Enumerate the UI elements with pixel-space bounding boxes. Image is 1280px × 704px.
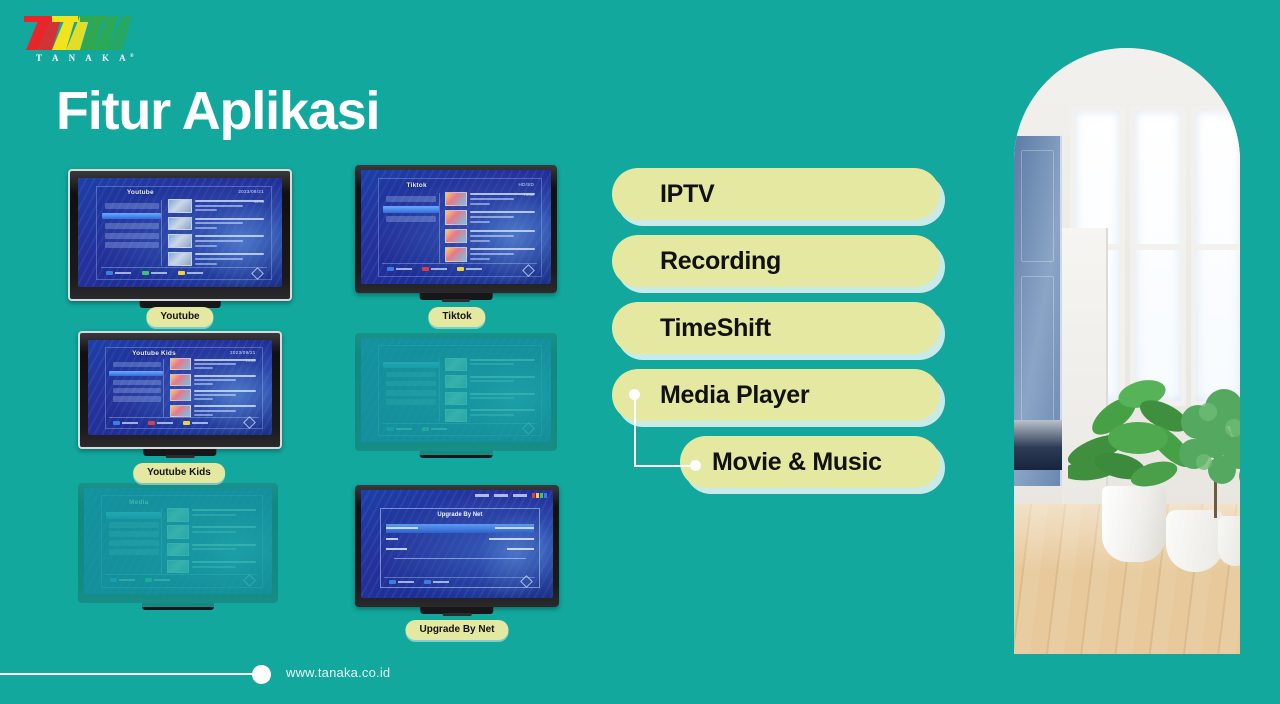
list-item[interactable] (168, 251, 267, 267)
screenshot-grid: Youtube 2023/09/21 14:35 (0, 165, 600, 645)
thumbnail (445, 392, 467, 405)
ok-diamond-icon (243, 574, 256, 587)
menu-item[interactable] (113, 388, 161, 393)
blue-key-icon (389, 580, 396, 584)
green-key-icon (142, 271, 149, 275)
app-key-hint-bar (109, 417, 259, 427)
tv-stand (142, 603, 214, 610)
photo-plant-tree-icon (1164, 378, 1240, 518)
menu-item-selected[interactable] (383, 206, 438, 213)
feature-list: IPTV Recording TimeShift Media Player Mo… (612, 168, 952, 498)
thumbnail (445, 409, 467, 422)
tv-screen-upgrade: Upgrade By Net (361, 490, 553, 598)
menu-item[interactable] (105, 203, 159, 209)
thumbnail (170, 358, 191, 370)
logo-subtext: T A N A K A® (36, 53, 134, 63)
thumbnail (168, 252, 192, 266)
dialog-row[interactable] (386, 535, 534, 544)
key-hint (145, 578, 170, 582)
blue-key-icon (106, 271, 113, 275)
app-meta: HD/SD (519, 182, 535, 187)
ok-diamond-icon (522, 422, 535, 435)
caption-tiktok: Tiktok (428, 307, 485, 327)
list-item[interactable] (445, 246, 537, 263)
app-menu-list[interactable] (109, 359, 164, 417)
footer-rule (0, 673, 252, 675)
menu-item[interactable] (109, 522, 158, 528)
feature-pill-iptv[interactable]: IPTV (612, 168, 940, 220)
menu-item[interactable] (386, 399, 436, 405)
list-item[interactable] (170, 357, 259, 371)
logo-mark-icon (22, 14, 140, 52)
upgrade-dialog: Upgrade By Net (380, 508, 539, 588)
list-item[interactable] (167, 507, 258, 523)
thumbnail (445, 358, 467, 371)
list-item[interactable] (445, 408, 537, 424)
thumbnail (445, 229, 467, 244)
ok-diamond-icon (251, 267, 264, 280)
yellow-key-icon (178, 271, 185, 275)
list-item[interactable] (168, 198, 267, 214)
screenshot-card-faded-2[interactable]: Media (78, 483, 278, 603)
interior-photo (1014, 48, 1240, 654)
app-content-list[interactable] (445, 357, 537, 423)
green-key-icon (422, 427, 429, 431)
tv-stand (420, 451, 493, 458)
tv-bezel: Youtube Kids 2023/09/21 14:35 (78, 331, 282, 449)
app-panel: Youtube Kids 2023/09/21 14:35 (105, 347, 263, 430)
dialog-row[interactable] (386, 544, 534, 553)
menu-item[interactable] (109, 531, 158, 537)
dialog-key-hint-bar (384, 577, 535, 586)
app-title: Media (129, 499, 148, 506)
tanaka-logo: T A N A K A® (22, 14, 142, 72)
thumbnail (170, 405, 191, 417)
screenshot-card-tiktok[interactable]: Tiktok HD/SD HDMI (355, 165, 557, 293)
blue-key-icon (387, 267, 394, 271)
app-key-hint-bar (382, 423, 537, 434)
app-content-list[interactable] (445, 191, 537, 263)
app-meta: 2023/09/21 (230, 350, 256, 355)
list-item[interactable] (445, 374, 537, 390)
key-hint (178, 271, 203, 275)
tv-screen-faded-2: Media (84, 488, 272, 594)
menu-item[interactable] (386, 372, 436, 378)
menu-item[interactable] (386, 390, 436, 396)
menu-item[interactable] (105, 233, 159, 239)
key-hint (142, 271, 167, 275)
menu-item-selected[interactable] (383, 362, 438, 368)
tv-bezel: Upgrade By Net (355, 485, 559, 607)
app-meta: 2023/09/21 (238, 189, 264, 194)
key-hint (424, 580, 449, 584)
thumbnail (167, 543, 189, 556)
list-item[interactable] (170, 388, 259, 402)
ok-diamond-icon (520, 575, 533, 588)
blue-key-icon (387, 427, 394, 431)
tv-bezel (355, 333, 557, 451)
thumbnail (170, 389, 191, 401)
photo-cabinet-shadow (1014, 420, 1062, 470)
feature-pill-timeshift[interactable]: TimeShift (612, 302, 940, 354)
tv-bezel: Media (78, 483, 278, 603)
tv-topbar (475, 493, 547, 498)
menu-item[interactable] (105, 223, 159, 229)
list-item[interactable] (170, 404, 259, 418)
key-hint (457, 267, 482, 271)
menu-item[interactable] (105, 242, 159, 248)
blue-key-icon (113, 421, 120, 425)
feature-pill-movie-music[interactable]: Movie & Music (680, 436, 940, 488)
app-content-list[interactable] (168, 198, 267, 267)
slide-root: T A N A K A® Fitur Aplikasi Youtube 2023… (0, 0, 1280, 704)
key-hint (422, 427, 447, 431)
key-hint (106, 271, 131, 275)
key-hint (387, 427, 412, 431)
list-item[interactable] (445, 391, 537, 407)
key-hint (387, 267, 412, 271)
app-panel: Tiktok HD/SD HDMI (378, 178, 541, 277)
app-panel (378, 345, 541, 436)
red-key-icon (148, 421, 155, 425)
caption-youtube-kids: Youtube Kids (133, 463, 225, 483)
page-title: Fitur Aplikasi (56, 84, 379, 138)
menu-item[interactable] (113, 380, 161, 385)
key-hint (148, 421, 173, 425)
menu-item[interactable] (386, 216, 436, 222)
list-item[interactable] (445, 357, 537, 373)
app-content-list[interactable] (170, 357, 259, 417)
list-item[interactable] (168, 233, 267, 249)
photo-planter-small (1218, 516, 1240, 566)
menu-item[interactable] (109, 549, 158, 555)
dialog-title: Upgrade By Net (381, 512, 538, 518)
tv-bezel: Youtube 2023/09/21 14:35 (68, 169, 292, 301)
thumbnail (445, 375, 467, 388)
tv-screen-faded-1 (361, 338, 551, 442)
list-item[interactable] (168, 216, 267, 232)
tv-bezel: Tiktok HD/SD HDMI (355, 165, 557, 293)
tv-screen-youtube: Youtube 2023/09/21 14:35 (78, 178, 282, 287)
app-key-hint-bar (382, 263, 537, 275)
thumbnail (170, 374, 191, 386)
green-key-icon (145, 578, 152, 582)
app-title: Youtube (127, 189, 154, 196)
menu-item-selected[interactable] (106, 512, 161, 518)
list-item[interactable] (445, 191, 537, 208)
ok-diamond-icon (243, 416, 256, 429)
menu-item-selected[interactable] (109, 371, 163, 377)
footer-dot-icon (252, 665, 271, 684)
photo-planter-medium (1166, 510, 1224, 572)
app-key-hint-bar (101, 267, 268, 278)
list-item[interactable] (445, 228, 537, 245)
app-menu-list[interactable] (383, 359, 439, 423)
thumbnail (445, 210, 467, 225)
yellow-key-icon (457, 267, 464, 271)
list-item[interactable] (167, 524, 258, 540)
footer-website-url: www.tanaka.co.id (286, 665, 390, 680)
screenshot-card-youtube-kids[interactable]: Youtube Kids 2023/09/21 14:35 (78, 331, 282, 449)
thumbnail (168, 199, 192, 213)
app-content-list[interactable] (167, 507, 258, 574)
key-hint (113, 421, 138, 425)
list-item[interactable] (167, 559, 258, 575)
list-item[interactable] (445, 209, 537, 226)
app-panel: Youtube 2023/09/21 14:35 (96, 186, 271, 281)
progress-bar (394, 558, 526, 561)
app-title: Tiktok (407, 182, 427, 189)
registered-mark-icon: ® (130, 54, 134, 59)
key-hint (110, 578, 135, 582)
key-hint (422, 267, 447, 271)
tv-screen-youtube-kids: Youtube Kids 2023/09/21 14:35 (88, 340, 272, 435)
app-menu-list[interactable] (106, 509, 162, 574)
menu-item[interactable] (386, 196, 436, 202)
app-menu-list[interactable] (383, 193, 439, 263)
dialog-row-selected[interactable] (386, 524, 534, 533)
caption-youtube: Youtube (146, 307, 213, 327)
tv-foot (442, 299, 470, 302)
red-key-icon (422, 267, 429, 271)
menu-item[interactable] (113, 362, 161, 367)
app-menu-list[interactable] (102, 200, 163, 267)
caption-upgrade-by-net: Upgrade By Net (405, 620, 508, 640)
tv-foot (443, 613, 472, 616)
window-pane (1191, 106, 1240, 406)
tv-foot (166, 455, 195, 458)
list-item[interactable] (167, 542, 258, 558)
key-hint (183, 421, 208, 425)
menu-item[interactable] (386, 381, 436, 387)
list-item[interactable] (170, 373, 259, 387)
thumbnail (445, 192, 467, 207)
thumbnail (167, 508, 189, 521)
tv-screen-tiktok: Tiktok HD/SD HDMI (361, 170, 551, 284)
app-key-hint-bar (105, 574, 258, 585)
feature-pill-media-player[interactable]: Media Player (612, 369, 940, 421)
screenshot-card-faded-1[interactable] (355, 333, 557, 451)
thumbnail (445, 247, 467, 262)
thumbnail (167, 525, 189, 538)
menu-item-selected[interactable] (102, 213, 162, 220)
app-title: Youtube Kids (132, 350, 176, 357)
screenshot-card-upgrade-by-net[interactable]: Upgrade By Net (355, 485, 559, 607)
menu-item[interactable] (113, 396, 161, 401)
app-panel: Media (101, 495, 263, 587)
thumbnail (168, 217, 192, 231)
feature-pill-recording[interactable]: Recording (612, 235, 940, 287)
thumbnail (167, 560, 189, 573)
key-hint (389, 580, 414, 584)
yellow-key-icon (183, 421, 190, 425)
screenshot-card-youtube[interactable]: Youtube 2023/09/21 14:35 (68, 169, 292, 301)
blue-key-icon (424, 580, 431, 584)
thumbnail (168, 234, 192, 248)
channel-logo-icon (532, 493, 547, 498)
ok-diamond-icon (522, 264, 535, 277)
blue-key-icon (110, 578, 117, 582)
menu-item[interactable] (109, 540, 158, 546)
